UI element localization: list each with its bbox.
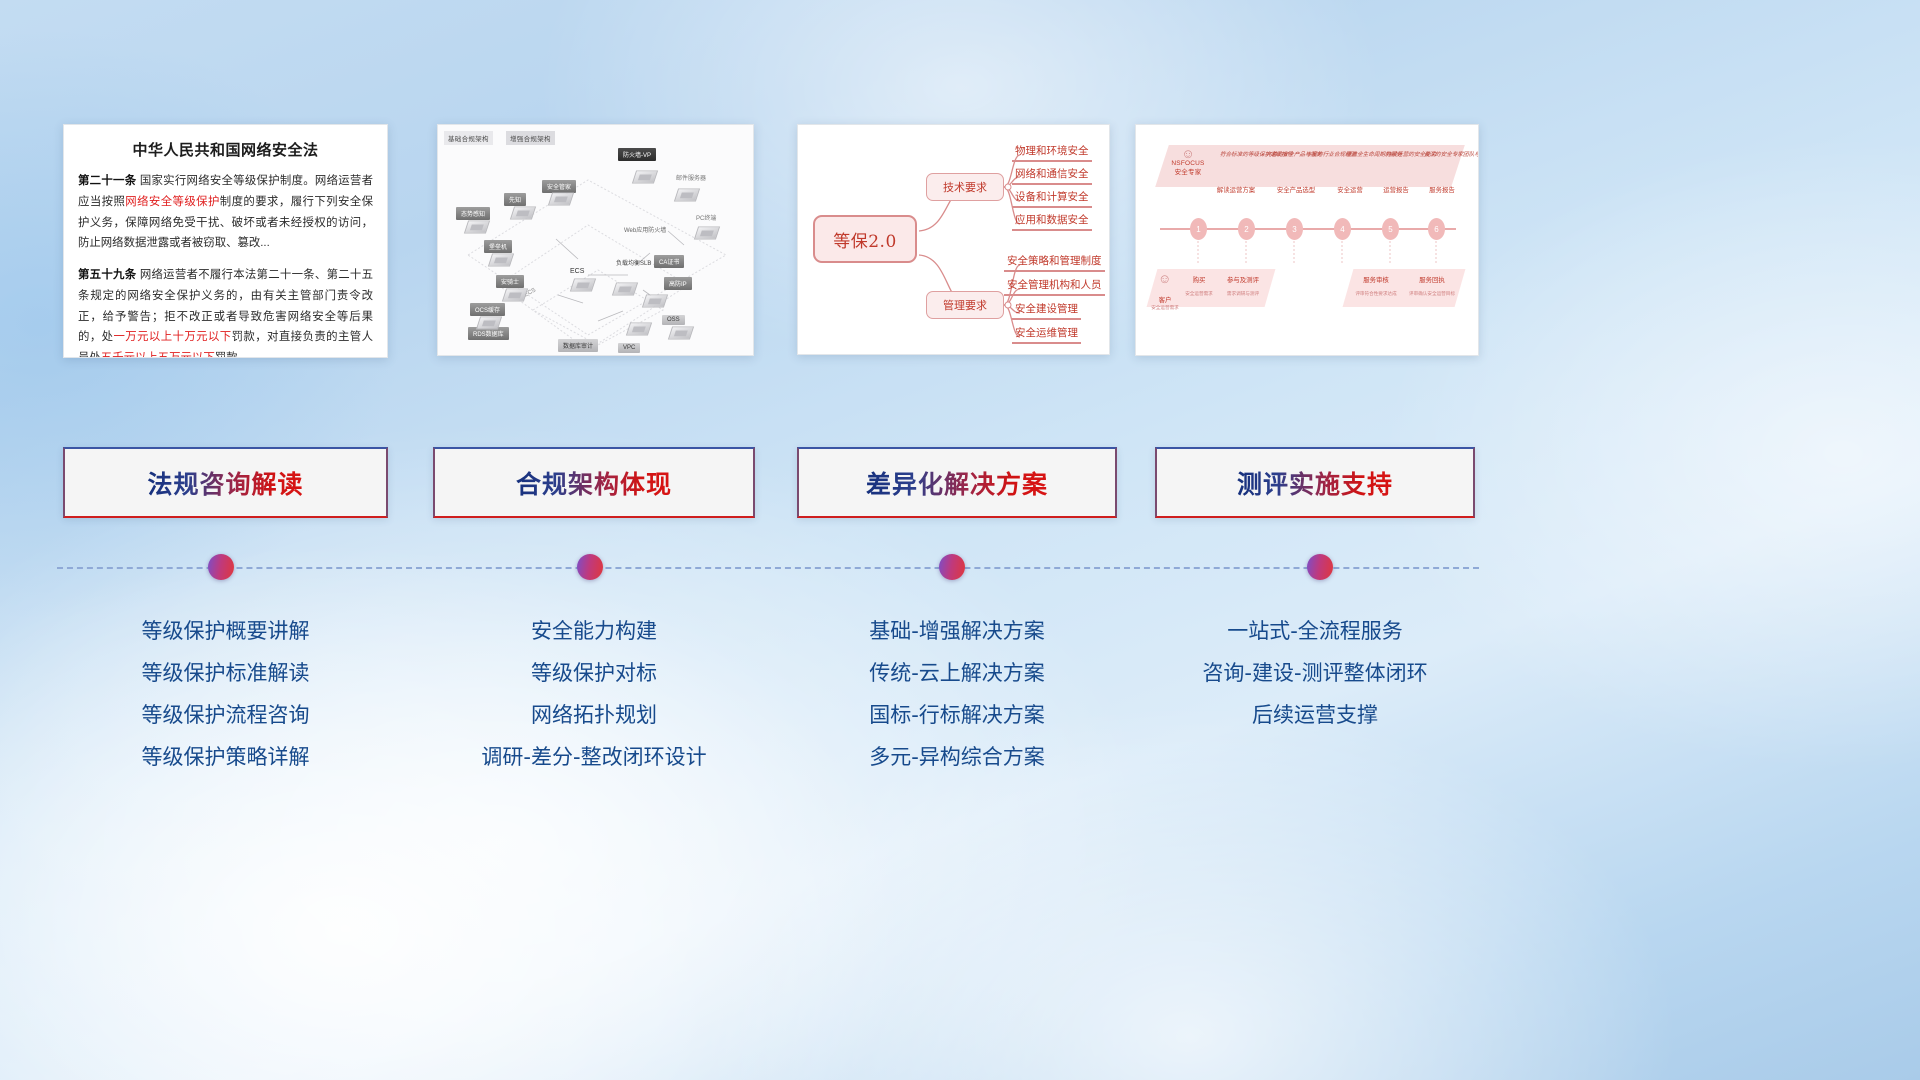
arch-node-xianzhi: 先知: [504, 193, 526, 206]
card-mindmap-dengbao: 等保2.0 技术要求 管理要求 物理和环境安全 网络和通信安全 设备和计算安全 …: [797, 124, 1110, 355]
timeline-marker-1[interactable]: [208, 554, 234, 580]
section-header-2[interactable]: 合规架构体现: [433, 447, 755, 518]
list-item: 等级保护流程咨询: [63, 694, 388, 736]
law-article-59-label: 第五十九条: [78, 269, 136, 281]
mindmap-leaf-app-data: 应用和数据安全: [1012, 212, 1092, 231]
list-item: 后续运营支撑: [1155, 694, 1475, 736]
roadmap-bottom-sub-2: 需求调研与测评: [1218, 291, 1268, 297]
list-item: 等级保护概要讲解: [63, 610, 388, 652]
arch-node-anqishi: 安骑士: [496, 275, 524, 288]
card-service-roadmap: ☺ NSFOCUS 安全专家 符合标准的等级保护定级指导 完善的安全产品与服务 …: [1135, 124, 1479, 356]
roadmap-customer-sub: 安全运营需求: [1144, 305, 1186, 311]
section-header-3-label: 差异化解决方案: [866, 465, 1048, 501]
arch-node-vpc: VPC: [618, 343, 640, 353]
illustration-card-row: 中华人民共和国网络安全法 第二十一条 国家实行网络安全等级保护制度。网络运营者应…: [0, 124, 1920, 364]
arch-node-oss: OSS: [662, 315, 685, 325]
mindmap-leaf-ops-mgmt: 安全运维管理: [1012, 325, 1081, 344]
roadmap-bottom-sub-3: 评审符合性要求达成: [1346, 291, 1406, 297]
list-item: 多元-异构综合方案: [797, 736, 1117, 778]
law-article-59-highlight-2: 五千元以上五万元以下: [101, 352, 215, 358]
mindmap-leaf-device-compute: 设备和计算安全: [1012, 189, 1092, 208]
service-list-1: 等级保护概要讲解 等级保护标准解读 等级保护流程咨询 等级保护策略详解: [63, 610, 388, 778]
arch-node-ocs-cache: OCS缓存: [470, 303, 505, 316]
service-list-4: 一站式-全流程服务 咨询-建设-测评整体闭环 后续运营支撑: [1155, 610, 1475, 736]
timeline-marker-2[interactable]: [577, 554, 603, 580]
list-item: 安全能力构建: [433, 610, 755, 652]
arch-node-slb: 负载均衡SLB: [616, 258, 651, 267]
list-item: 一站式-全流程服务: [1155, 610, 1475, 652]
section-header-4-label: 测评实施支持: [1237, 465, 1393, 501]
law-article-21-label: 第二十一条: [78, 175, 136, 187]
arch-node-ca-cert: CA证书: [654, 255, 684, 268]
arch-node-security-butler: 安全管家: [542, 180, 576, 193]
service-list-2: 安全能力构建 等级保护对标 网络拓扑规划 调研-差分-整改闭环设计: [433, 610, 755, 778]
customer-person-icon: ☺: [1158, 271, 1171, 286]
card-cybersecurity-law: 中华人民共和国网络安全法 第二十一条 国家实行网络安全等级保护制度。网络运营者应…: [63, 124, 388, 358]
arch-node-pc-terminal: PC终端: [696, 213, 716, 222]
arch-node-situation-awareness: 态势感知: [456, 207, 490, 220]
arch-node-anti-ddos: 高防IP: [664, 277, 692, 290]
roadmap-bottom-tag-2: 参与及测评: [1222, 275, 1264, 284]
card-compliance-architecture: 基础合规架构 增强合规架构: [437, 124, 754, 356]
arch-node-ecs: ECS: [570, 268, 584, 275]
roadmap-step-1: 1: [1190, 218, 1207, 240]
arch-node-bastion: 堡垒机: [484, 240, 512, 253]
mindmap-leaf-org-personnel: 安全管理机构和人员: [1004, 277, 1105, 296]
roadmap-timeline-svg: [1136, 125, 1479, 356]
list-item: 等级保护对标: [433, 652, 755, 694]
mindmap-leaf-physical-env: 物理和环境安全: [1012, 143, 1092, 162]
section-header-1-label: 法规咨询解读: [147, 465, 303, 501]
law-article-59-text-c: 罚款。: [215, 352, 249, 358]
list-item: 咨询-建设-测评整体闭环: [1155, 652, 1475, 694]
roadmap-step-3: 3: [1286, 218, 1303, 240]
roadmap-bottom-tag-3: 服务审核: [1354, 275, 1398, 284]
timeline-marker-4[interactable]: [1307, 554, 1333, 580]
law-article-21-highlight: 网络安全等级保护: [125, 196, 220, 208]
timeline-dashed-line: [57, 567, 1479, 569]
list-item: 等级保护标准解读: [63, 652, 388, 694]
list-item: 国标-行标解决方案: [797, 694, 1117, 736]
section-header-1[interactable]: 法规咨询解读: [63, 447, 388, 518]
roadmap-bottom-sub-4: 评审确认安全运营目标: [1402, 291, 1462, 297]
timeline-marker-3[interactable]: [939, 554, 965, 580]
roadmap-step-4: 4: [1334, 218, 1351, 240]
mindmap-leaf-network-comm: 网络和通信安全: [1012, 166, 1092, 185]
arch-node-firewall: 防火墙-VP: [618, 148, 656, 161]
section-header-4[interactable]: 测评实施支持: [1155, 447, 1475, 518]
roadmap-bottom-tag-4: 服务回执: [1410, 275, 1454, 284]
mindmap-leaf-construction-mgmt: 安全建设管理: [1012, 301, 1081, 320]
law-article-21: 第二十一条 国家实行网络安全等级保护制度。网络运营者应当按照网络安全等级保护制度…: [78, 171, 373, 254]
mindmap-root-node: 等保2.0: [813, 215, 917, 263]
roadmap-step-5: 5: [1382, 218, 1399, 240]
roadmap-bottom-sub-1: 安全运营需求: [1176, 291, 1222, 297]
mindmap-leaf-policy-system: 安全策略和管理制度: [1004, 253, 1105, 272]
list-item: 传统-云上解决方案: [797, 652, 1117, 694]
list-item: 调研-差分-整改闭环设计: [433, 736, 755, 778]
mindmap-branch-management: 管理要求: [926, 291, 1004, 319]
arch-node-waf: Web应用防火墙: [624, 225, 666, 234]
law-article-59-highlight-1: 一万元以上十万元以下: [113, 331, 231, 343]
list-item: 网络拓扑规划: [433, 694, 755, 736]
law-title: 中华人民共和国网络安全法: [78, 139, 373, 160]
roadmap-step-2: 2: [1238, 218, 1255, 240]
section-header-3[interactable]: 差异化解决方案: [797, 447, 1117, 518]
arch-node-db-audit: 数据库审计: [558, 339, 598, 352]
roadmap-step-6: 6: [1428, 218, 1445, 240]
list-item: 等级保护策略详解: [63, 736, 388, 778]
roadmap-bottom-tag-1: 购买: [1184, 275, 1214, 284]
arch-node-mail-server: 邮件服务器: [676, 173, 706, 182]
list-item: 基础-增强解决方案: [797, 610, 1117, 652]
section-header-2-label: 合规架构体现: [516, 465, 672, 501]
law-article-59: 第五十九条 网络运营者不履行本法第二十一条、第二十五条规定的网络安全保护义务的，…: [78, 265, 373, 358]
mindmap-branch-technical: 技术要求: [926, 173, 1004, 201]
service-list-3: 基础-增强解决方案 传统-云上解决方案 国标-行标解决方案 多元-异构综合方案: [797, 610, 1117, 778]
